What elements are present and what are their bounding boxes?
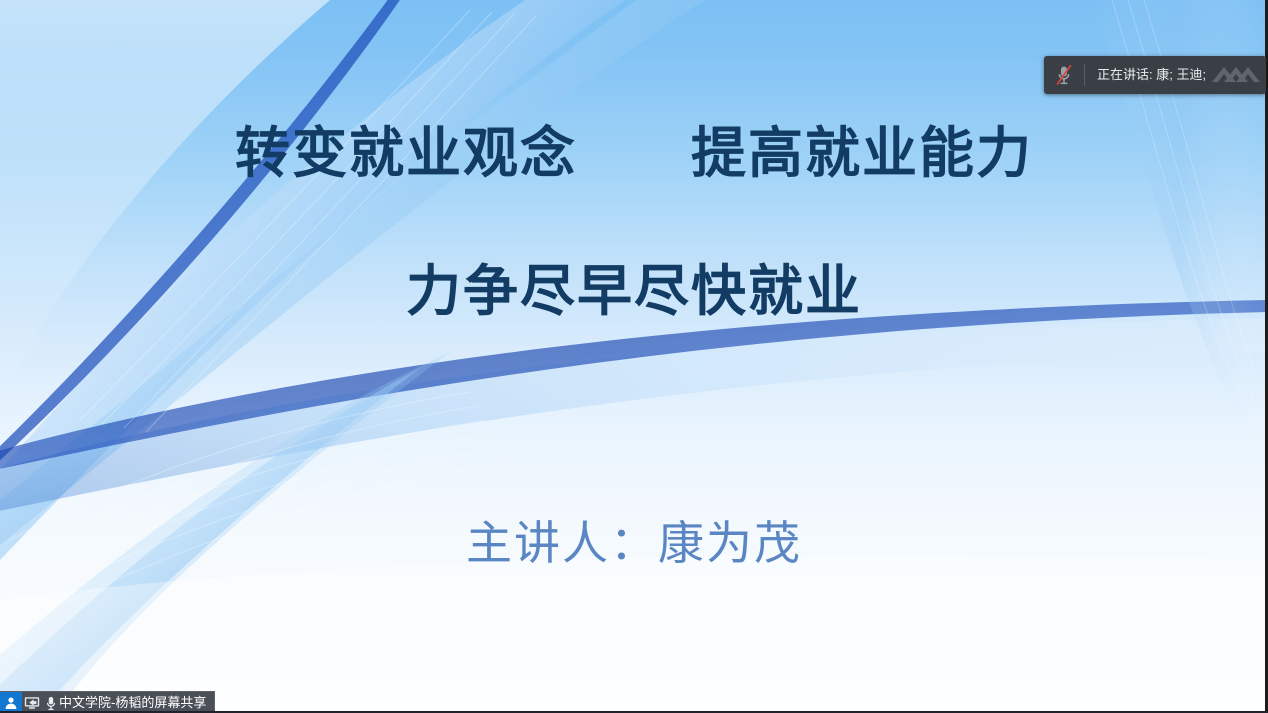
microphone-icon <box>43 692 58 713</box>
double-chevron-icon <box>1206 56 1266 94</box>
active-speaker-label: 正在讲话: 康; 王迪; <box>1085 56 1206 94</box>
shared-slide: 转变就业观念 提高就业能力 力争尽早尽快就业 主讲人：康为茂 <box>0 0 1268 713</box>
screen-share-viewer: 转变就业观念 提高就业能力 力争尽早尽快就业 主讲人：康为茂 正在讲话: 康; … <box>0 0 1268 713</box>
screen-share-status-bar[interactable]: 中文学院-杨韬的屏幕共享 <box>0 691 215 713</box>
active-speaker-indicator[interactable]: 正在讲话: 康; 王迪; <box>1044 56 1266 94</box>
slide-title-line-2: 力争尽早尽快就业 <box>0 256 1268 326</box>
screen-share-icon <box>22 692 43 713</box>
slide-presenter-line: 主讲人：康为茂 <box>0 512 1268 574</box>
screen-share-label: 中文学院-杨韬的屏幕共享 <box>58 692 214 713</box>
microphone-muted-icon[interactable] <box>1044 56 1084 94</box>
person-icon <box>0 692 22 713</box>
slide-text: 转变就业观念 提高就业能力 力争尽早尽快就业 主讲人：康为茂 <box>0 0 1268 713</box>
slide-title-line-1: 转变就业观念 提高就业能力 <box>0 118 1268 188</box>
